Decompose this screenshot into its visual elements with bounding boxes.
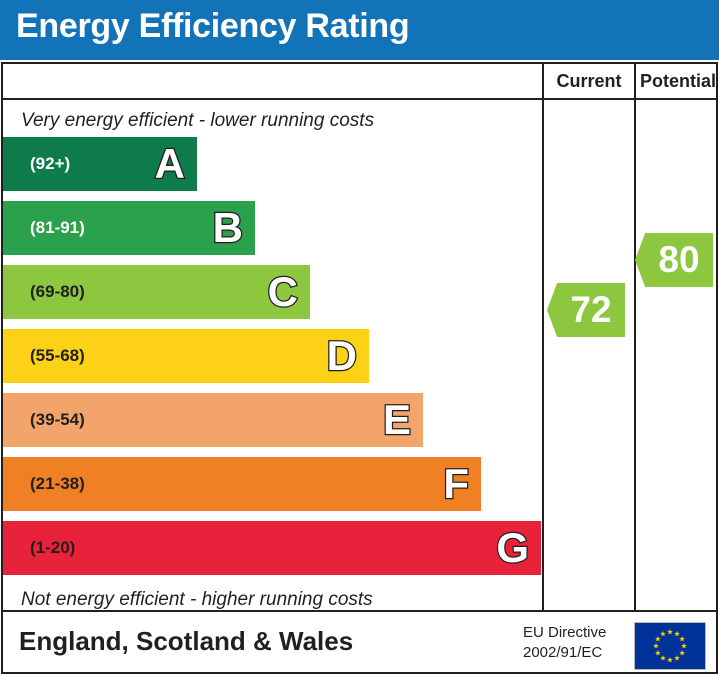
- band-row-g: (1-20) G: [3, 521, 541, 575]
- footer-directive: EU Directive 2002/91/EC: [523, 623, 627, 664]
- band-range-d: (55-68): [30, 346, 85, 366]
- column-divider-potential: [634, 64, 636, 610]
- caption-bottom: Not energy efficient - higher running co…: [21, 589, 373, 611]
- band-row-b: (81-91) B: [3, 201, 255, 255]
- caption-top: Very energy efficient - lower running co…: [21, 110, 374, 132]
- band-range-e: (39-54): [30, 410, 85, 430]
- column-divider-current: [542, 64, 544, 610]
- band-row-c: (69-80) C: [3, 265, 310, 319]
- potential-rating-badge: 80: [635, 233, 713, 287]
- band-range-g: (1-20): [30, 538, 75, 558]
- band-row-d: (55-68) D: [3, 329, 369, 383]
- current-rating-badge: 72: [547, 283, 625, 337]
- column-header-potential: Potential: [636, 71, 719, 92]
- band-range-f: (21-38): [30, 474, 85, 494]
- band-letter-d: D: [327, 335, 357, 377]
- column-header-current: Current: [544, 71, 634, 92]
- footer-bar: England, Scotland & Wales EU Directive 2…: [1, 612, 718, 674]
- band-range-b: (81-91): [30, 218, 85, 238]
- band-range-c: (69-80): [30, 282, 85, 302]
- band-letter-c: C: [268, 271, 298, 313]
- title-bar: Energy Efficiency Rating: [0, 0, 719, 60]
- eu-flag-icon: [634, 622, 706, 670]
- band-letter-e: E: [383, 399, 411, 441]
- band-row-a: (92+) A: [3, 137, 197, 191]
- band-letter-g: G: [496, 527, 529, 569]
- energy-efficiency-rating-chart: Energy Efficiency Rating Current Potenti…: [0, 0, 719, 675]
- band-range-a: (92+): [30, 154, 70, 174]
- band-letter-f: F: [443, 463, 469, 505]
- band-row-f: (21-38) F: [3, 457, 481, 511]
- footer-directive-line2: 2002/91/EC: [523, 643, 627, 663]
- band-letter-a: A: [155, 143, 185, 185]
- rating-table: Current Potential Very energy efficient …: [1, 62, 718, 612]
- footer-region-label: England, Scotland & Wales: [19, 626, 353, 657]
- page-title: Energy Efficiency Rating: [16, 7, 409, 46]
- band-letter-b: B: [213, 207, 243, 249]
- footer-directive-line1: EU Directive: [523, 623, 627, 643]
- band-row-e: (39-54) E: [3, 393, 423, 447]
